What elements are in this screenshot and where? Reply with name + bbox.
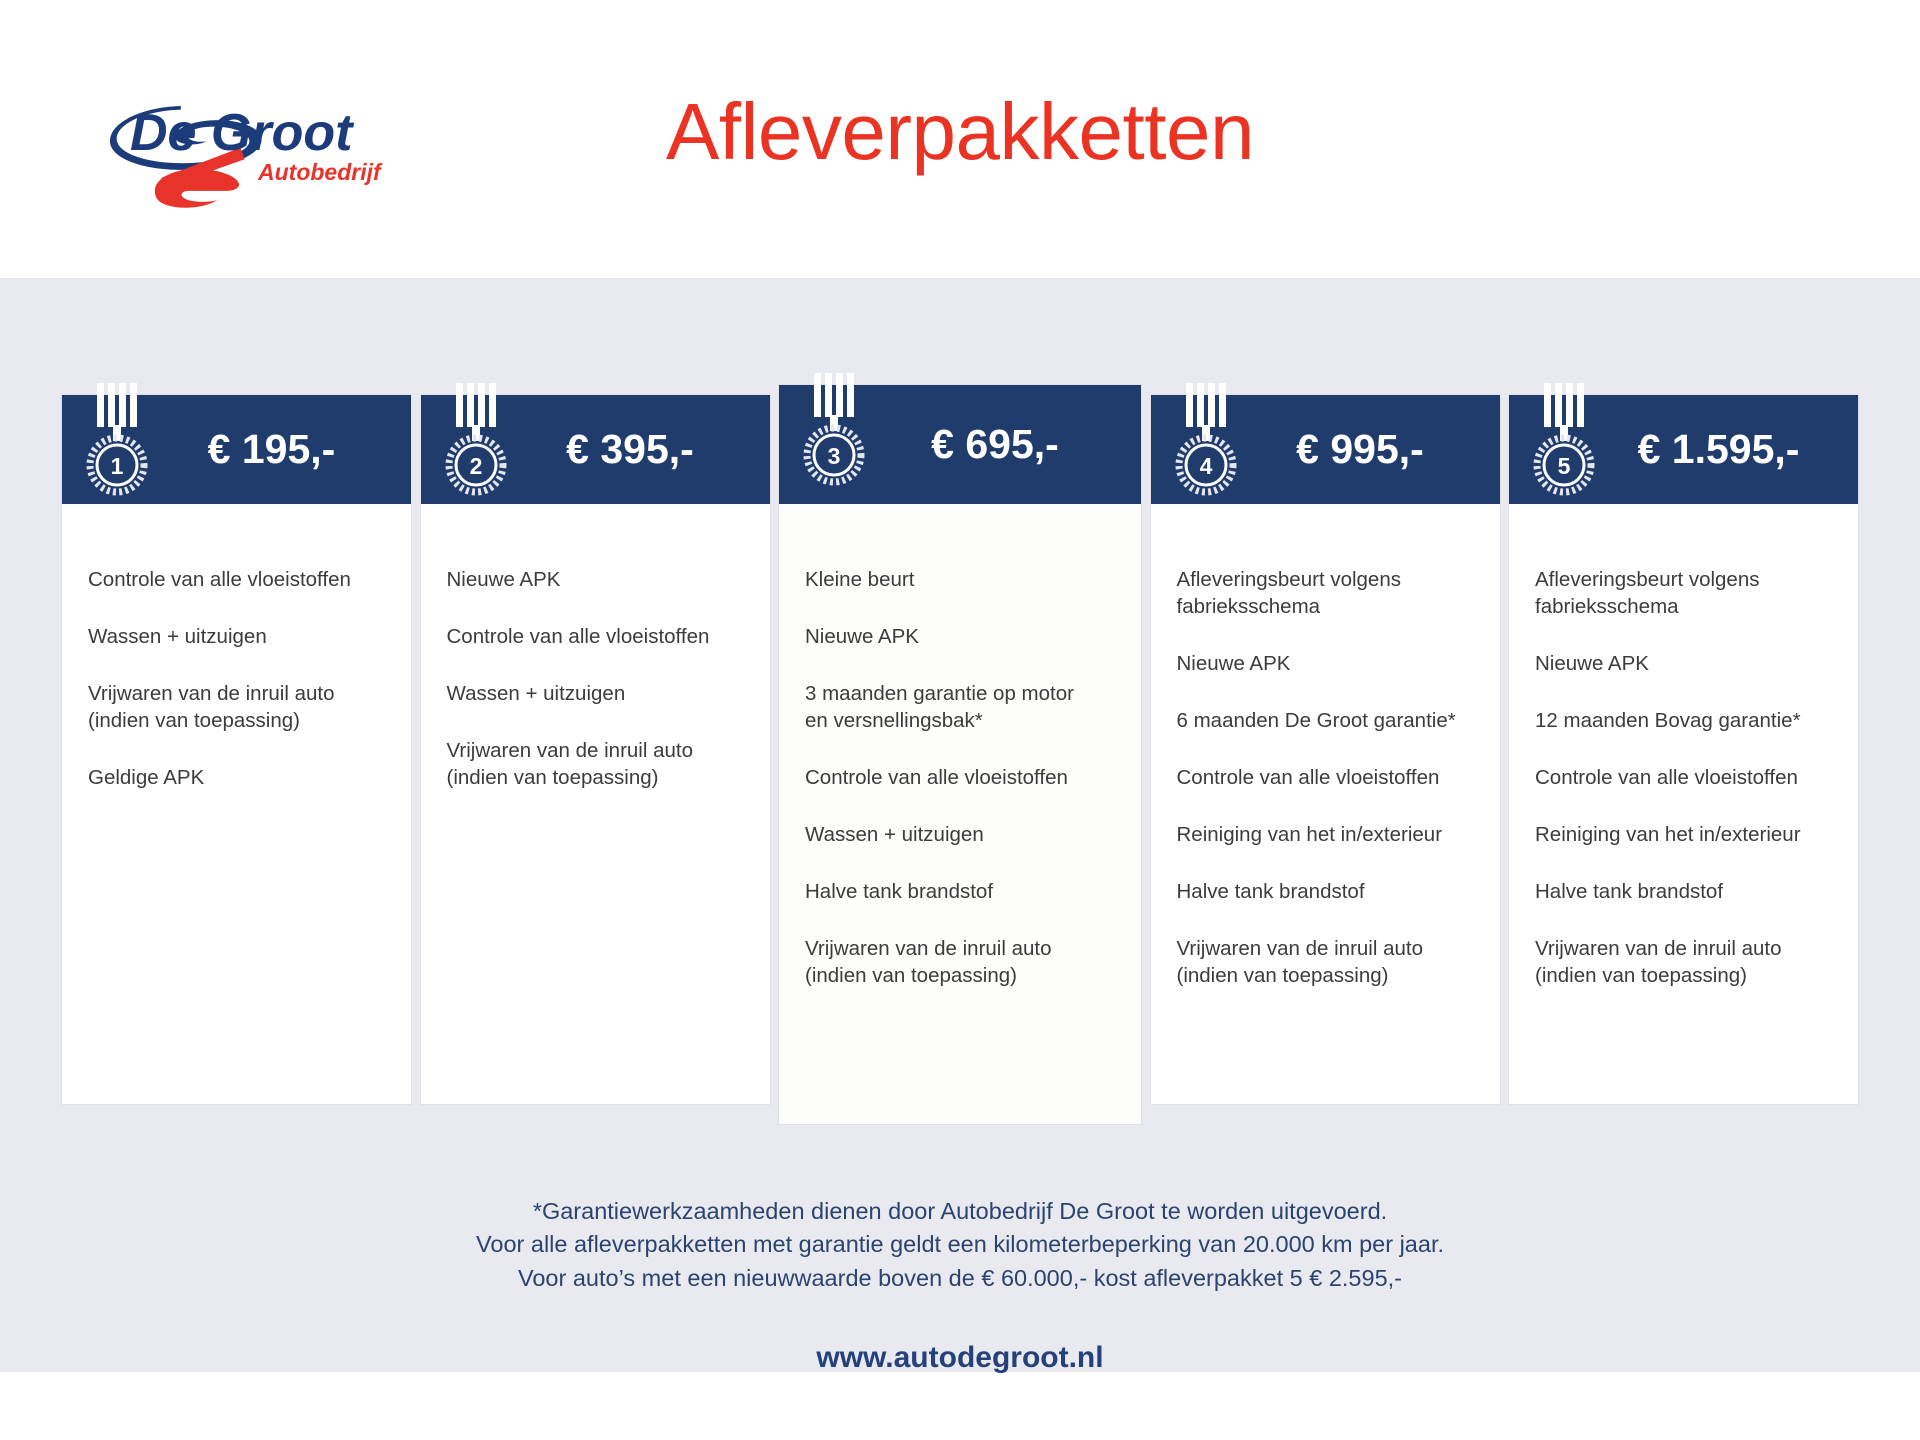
package-feature-item: 12 maanden Bovag garantie* (1535, 707, 1832, 734)
page-header: De Groot Autobedrijf Afleverpakketten (0, 0, 1920, 278)
package-feature-item: Vrijwaren van de inruil auto (indien van… (88, 680, 385, 734)
package-feature-item: Wassen + uitzuigen (805, 821, 1115, 848)
package-feature-list: Kleine beurtNieuwe APK3 maanden garantie… (779, 504, 1141, 1124)
package-feature-item: Controle van alle vloeistoffen (1177, 764, 1474, 791)
package-feature-item: Controle van alle vloeistoffen (1535, 764, 1832, 791)
package-feature-item: Nieuwe APK (447, 566, 744, 593)
package-feature-item: Nieuwe APK (1535, 650, 1832, 677)
package-card-5[interactable]: 5 € 1.595,-Afleveringsbeurt volgens fabr… (1509, 395, 1858, 1104)
package-feature-item: Wassen + uitzuigen (447, 680, 744, 707)
package-card-2[interactable]: 2 € 395,-Nieuwe APKControle van alle vlo… (421, 395, 770, 1104)
package-feature-item: Afleveringsbeurt volgens fabrieksschema (1177, 566, 1474, 620)
package-card-header: 3 € 695,- (779, 385, 1141, 504)
package-card-4[interactable]: 4 € 995,-Afleveringsbeurt volgens fabrie… (1151, 395, 1500, 1104)
package-feature-item: Reiniging van het in/exterieur (1177, 821, 1474, 848)
package-card-3[interactable]: 3 € 695,-Kleine beurtNieuwe APK3 maanden… (779, 385, 1141, 1124)
package-feature-item: Controle van alle vloeistoffen (88, 566, 385, 593)
package-feature-list: Afleveringsbeurt volgens fabrieksschemaN… (1509, 504, 1858, 1104)
package-feature-item: Vrijwaren van de inruil auto (indien van… (1177, 935, 1474, 989)
package-price: € 195,- (62, 426, 411, 473)
package-card-header: 1 € 195,- (62, 395, 411, 504)
package-price: € 695,- (779, 421, 1141, 468)
package-price: € 995,- (1151, 426, 1500, 473)
footer-disclaimer: *Garantiewerkzaamheden dienen door Autob… (0, 1195, 1920, 1295)
package-feature-item: Halve tank brandstof (1535, 878, 1832, 905)
package-feature-item: Reiniging van het in/exterieur (1535, 821, 1832, 848)
package-feature-item: Vrijwaren van de inruil auto (indien van… (447, 737, 744, 791)
package-feature-item: Kleine beurt (805, 566, 1115, 593)
footer-line: Voor auto’s met een nieuwwaarde boven de… (0, 1262, 1920, 1295)
package-card-header: 2 € 395,- (421, 395, 770, 504)
footer-line: Voor alle afleverpakketten met garantie … (0, 1228, 1920, 1261)
package-feature-item: Nieuwe APK (805, 623, 1115, 650)
package-card-list: 1 € 195,-Controle van alle vloeistoffenW… (62, 395, 1858, 1170)
package-card-header: 4 € 995,- (1151, 395, 1500, 504)
package-feature-item: 3 maanden garantie op motor en versnelli… (805, 680, 1115, 734)
package-feature-item: Wassen + uitzuigen (88, 623, 385, 650)
package-price: € 1.595,- (1509, 426, 1858, 473)
package-feature-item: Controle van alle vloeistoffen (447, 623, 744, 650)
package-card-1[interactable]: 1 € 195,-Controle van alle vloeistoffenW… (62, 395, 411, 1104)
package-feature-item: Halve tank brandstof (1177, 878, 1474, 905)
package-feature-list: Nieuwe APKControle van alle vloeistoffen… (421, 504, 770, 1104)
package-feature-item: 6 maanden De Groot garantie* (1177, 707, 1474, 734)
package-feature-list: Controle van alle vloeistoffenWassen + u… (62, 504, 411, 1104)
package-feature-item: Geldige APK (88, 764, 385, 791)
package-feature-item: Nieuwe APK (1177, 650, 1474, 677)
package-feature-item: Halve tank brandstof (805, 878, 1115, 905)
website-url[interactable]: www.autodegroot.nl (0, 1341, 1920, 1375)
package-card-header: 5 € 1.595,- (1509, 395, 1858, 504)
package-feature-item: Vrijwaren van de inruil auto (indien van… (805, 935, 1115, 989)
footer-line: *Garantiewerkzaamheden dienen door Autob… (0, 1195, 1920, 1228)
package-feature-list: Afleveringsbeurt volgens fabrieksschemaN… (1151, 504, 1500, 1104)
package-feature-item: Controle van alle vloeistoffen (805, 764, 1115, 791)
package-feature-item: Afleveringsbeurt volgens fabrieksschema (1535, 566, 1832, 620)
page-root: De Groot Autobedrijf Afleverpakketten 1 … (0, 0, 1920, 1440)
package-feature-item: Vrijwaren van de inruil auto (indien van… (1535, 935, 1832, 989)
package-price: € 395,- (421, 426, 770, 473)
page-title: Afleverpakketten (0, 92, 1920, 172)
